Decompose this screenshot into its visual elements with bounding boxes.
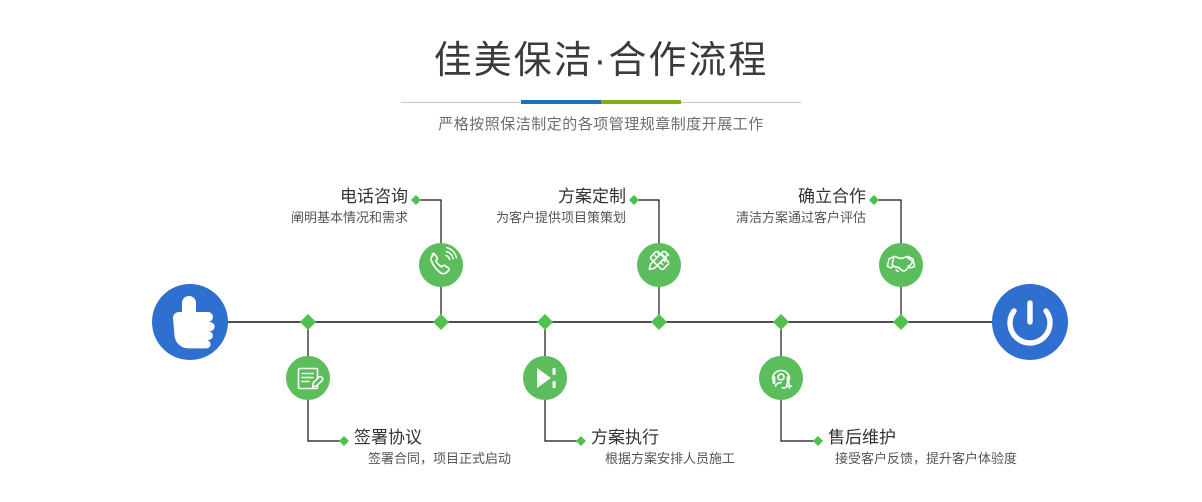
step-icon-establish-coop[interactable] (879, 243, 923, 287)
step-title: 确立合作 (566, 186, 866, 208)
step-label-establish-coop: 确立合作 清洁方案通过客户评估 (566, 186, 866, 228)
step-icon-circle (419, 243, 463, 287)
step-desc: 清洁方案通过客户评估 (566, 208, 866, 228)
timeline-node-marker (773, 314, 789, 330)
step-icon-plan-custom[interactable] (637, 243, 681, 287)
step-icon-after-sales[interactable] (759, 356, 803, 400)
timeline-node-marker (893, 314, 909, 330)
step-icon-plan-execute[interactable] (523, 356, 567, 400)
step-desc: 接受客户反馈，提升客户体验度 (835, 449, 1168, 469)
timeline-node-marker (651, 314, 667, 330)
label-anchor-marker (339, 436, 349, 446)
step-title: 售后维护 (828, 427, 1168, 449)
label-anchor-markers (339, 195, 879, 446)
step-icon-phone-consult[interactable] (419, 243, 463, 287)
step-icon-circle (637, 243, 681, 287)
timeline-node-marker (537, 314, 553, 330)
timeline-node-marker (300, 314, 316, 330)
flow-diagram-page: 佳美保洁·合作流程 严格按照保洁制定的各项管理规章制度开展工作 (0, 0, 1202, 502)
step-icon-circle (759, 356, 803, 400)
step-label-after-sales: 售后维护 接受客户反馈，提升客户体验度 (828, 427, 1168, 469)
end-node[interactable] (992, 284, 1068, 360)
label-anchor-marker (869, 195, 879, 205)
timeline-node-marker (433, 314, 449, 330)
start-node[interactable] (152, 284, 228, 360)
step-icon-sign-agreement[interactable] (286, 356, 330, 400)
step-icon-circle (879, 243, 923, 287)
